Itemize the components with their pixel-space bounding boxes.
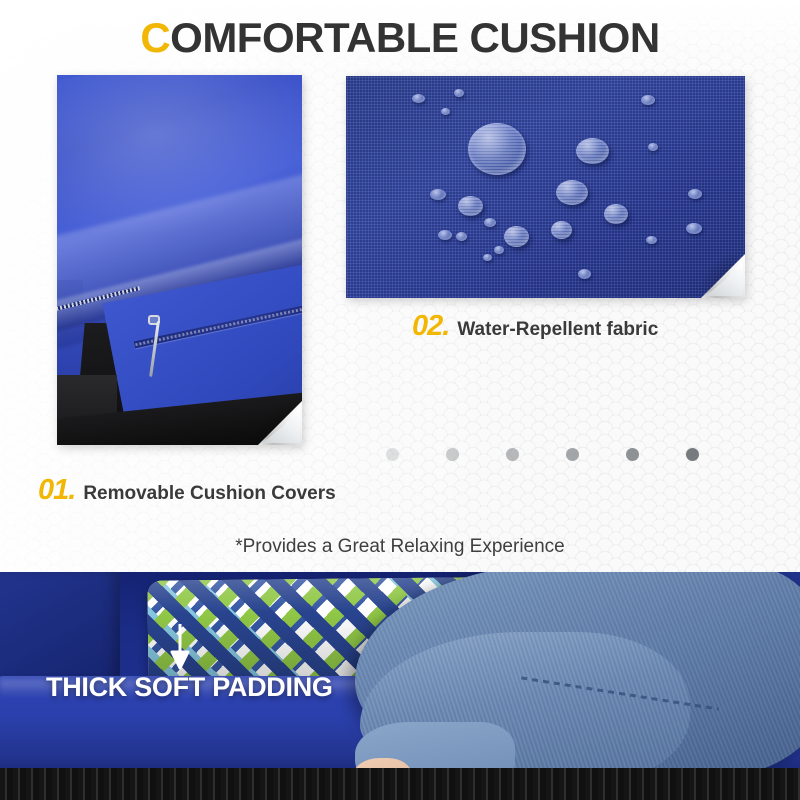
decorative-dot-row xyxy=(386,448,706,462)
water-droplet xyxy=(551,221,572,239)
water-droplet xyxy=(458,196,483,216)
water-droplet-small xyxy=(483,254,492,261)
water-droplet-small xyxy=(456,232,467,241)
feature-caption-01: 01.Removable Cushion Covers xyxy=(38,474,336,507)
water-droplet-small xyxy=(688,189,702,199)
sofa-back-cushion-left xyxy=(0,572,120,686)
feature-number-02: 02. xyxy=(412,310,449,342)
water-droplet-small xyxy=(441,108,450,115)
dot xyxy=(626,448,639,461)
thick-soft-padding-label: THICK SOFT PADDING xyxy=(46,672,333,703)
wicker-base xyxy=(0,768,800,800)
dot xyxy=(566,448,579,461)
feature-label-02: Water-Repellent fabric xyxy=(457,319,658,340)
feature-number-01: 01. xyxy=(38,474,75,506)
water-droplet-small xyxy=(412,94,425,103)
water-droplets-fabric-photo xyxy=(346,76,745,298)
water-droplet-small xyxy=(430,189,446,200)
page-title: COMFORTABLE CUSHION xyxy=(0,14,800,62)
water-droplet xyxy=(604,204,628,224)
lifestyle-sofa-photo: THICK SOFT PADDING xyxy=(0,572,800,800)
feature-label-01: Removable Cushion Covers xyxy=(83,483,335,504)
woven-fabric-surface xyxy=(346,76,745,298)
dot xyxy=(686,448,699,461)
water-droplet-small xyxy=(648,143,658,151)
dot xyxy=(506,448,519,461)
title-rest: OMFORTABLE CUSHION xyxy=(170,14,660,61)
down-arrow-icon xyxy=(170,624,190,670)
water-droplet-small xyxy=(484,218,496,227)
product-infographic: COMFORTABLE CUSHION xyxy=(0,0,800,800)
water-droplet-large xyxy=(468,123,526,175)
water-droplet-small xyxy=(641,95,655,105)
water-droplet-small xyxy=(454,89,464,97)
photo-content xyxy=(346,76,745,298)
blue-cushion-zipper-photo xyxy=(57,75,302,445)
dot xyxy=(386,448,399,461)
subnote-text: *Provides a Great Relaxing Experience xyxy=(0,536,800,558)
water-droplet-small xyxy=(686,223,702,234)
water-droplet-small xyxy=(438,230,452,240)
water-droplet xyxy=(504,226,529,247)
feature-caption-02: 02.Water-Repellent fabric xyxy=(412,310,658,343)
photo-content xyxy=(57,75,302,445)
dot xyxy=(446,448,459,461)
water-droplet xyxy=(576,138,609,164)
water-droplet-small xyxy=(578,269,591,279)
title-accent-letter: C xyxy=(140,14,170,61)
water-droplet xyxy=(556,180,588,205)
water-droplet-small xyxy=(646,236,657,244)
water-droplet-small xyxy=(494,246,504,254)
